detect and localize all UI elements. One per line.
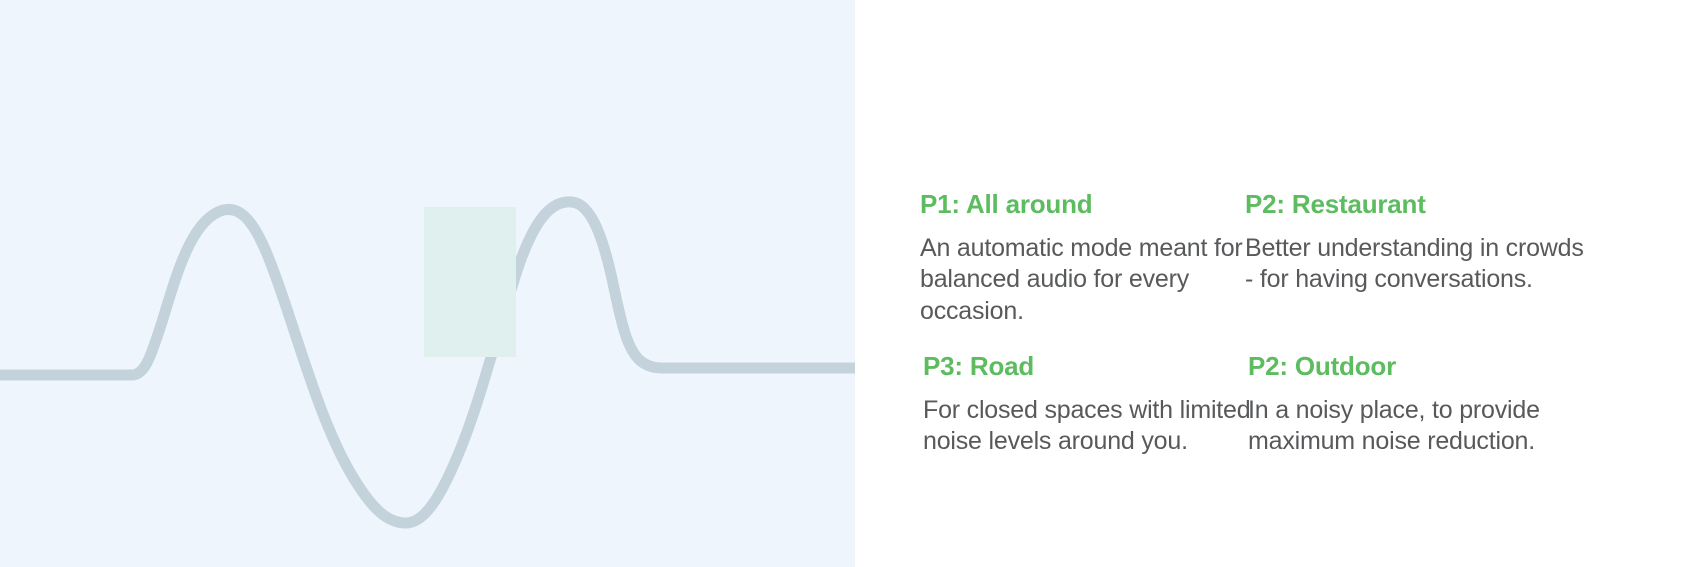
- mode-card-p2-restaurant: P2: Restaurant Better understanding in c…: [1245, 190, 1585, 296]
- mode-card-p3-road: P3: Road For closed spaces with limited …: [923, 352, 1263, 458]
- waveform-highlight-band: [424, 207, 516, 357]
- mode-description: For closed spaces with limited noise lev…: [923, 395, 1263, 458]
- waveform-panel: [0, 0, 855, 567]
- mode-description: Better understanding in crowds - for hav…: [1245, 233, 1585, 296]
- mode-title: P2: Restaurant: [1245, 190, 1585, 219]
- slide-root: P1: All around An automatic mode meant f…: [0, 0, 1701, 567]
- mode-card-p1-all-around: P1: All around An automatic mode meant f…: [920, 190, 1260, 327]
- mode-title: P3: Road: [923, 352, 1263, 381]
- mode-description: In a noisy place, to provide maximum noi…: [1248, 395, 1588, 458]
- mode-title: P1: All around: [920, 190, 1260, 219]
- mode-title: P2: Outdoor: [1248, 352, 1588, 381]
- mode-card-p2-outdoor: P2: Outdoor In a noisy place, to provide…: [1248, 352, 1588, 458]
- modes-panel: P1: All around An automatic mode meant f…: [855, 0, 1701, 567]
- mode-description: An automatic mode meant for balanced aud…: [920, 233, 1260, 328]
